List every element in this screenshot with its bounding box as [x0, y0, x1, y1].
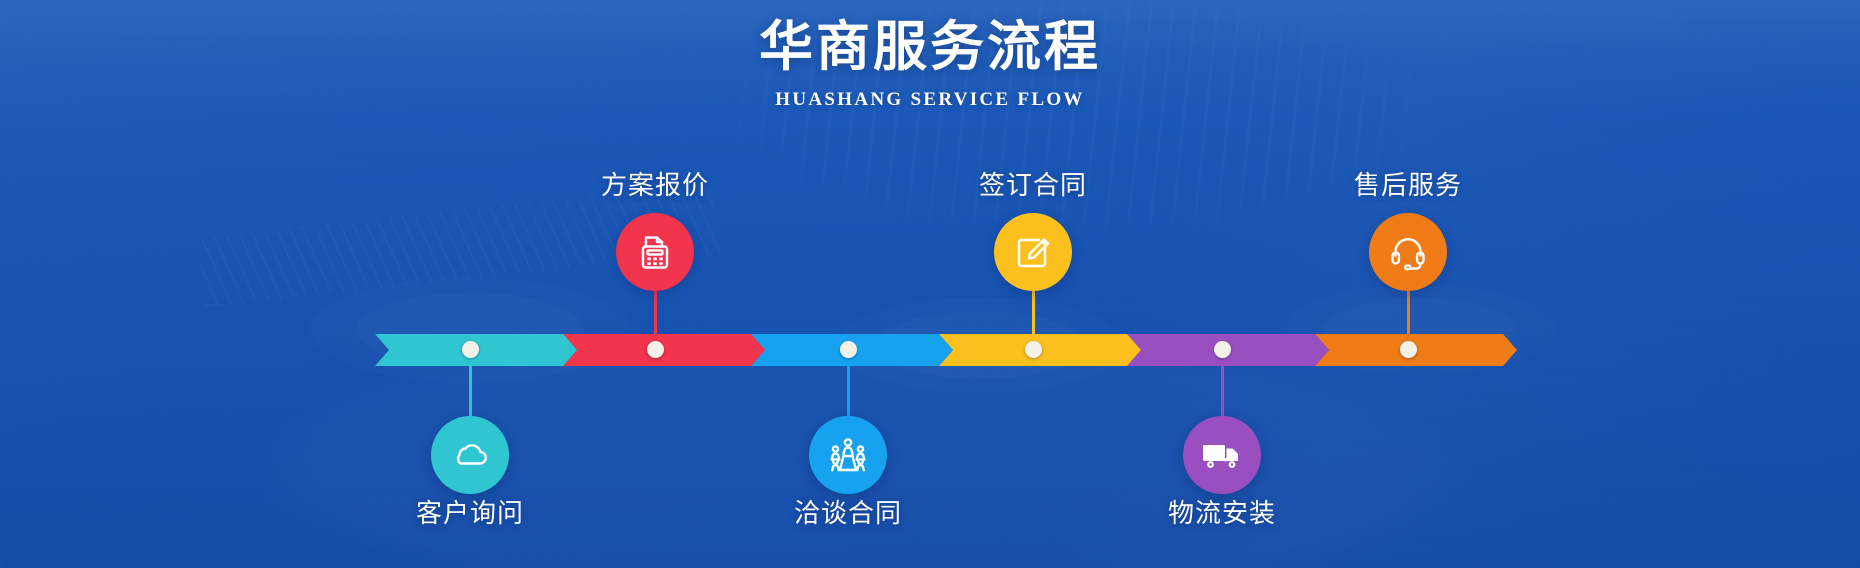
- contract-pen-icon[interactable]: [994, 213, 1072, 291]
- flow-step-marker-dot: [1025, 341, 1042, 358]
- delivery-truck-icon[interactable]: [1183, 416, 1261, 494]
- flow-step-label: 售后服务: [1354, 168, 1462, 202]
- flow-step-label: 洽谈合同: [794, 496, 902, 530]
- meeting-table-icon[interactable]: [809, 416, 887, 494]
- flow-steps: 客户询问方案报价洽谈合同签订合同物流安装售后服务: [0, 0, 1860, 568]
- calculator-receipt-icon[interactable]: [616, 213, 694, 291]
- flow-step-label: 签订合同: [979, 168, 1087, 202]
- service-flow-banner: 华商服务流程 HUASHANG SERVICE FLOW 客户询问方案报价洽谈合…: [0, 0, 1860, 568]
- flow-step-marker-dot: [1400, 341, 1417, 358]
- flow-step-label: 客户询问: [416, 496, 524, 530]
- flow-step-marker-dot: [1214, 341, 1231, 358]
- flow-step-label: 方案报价: [601, 168, 709, 202]
- flow-step-label: 物流安装: [1168, 496, 1276, 530]
- flow-step-marker-dot: [647, 341, 664, 358]
- flow-arrow-bar: [0, 334, 1860, 366]
- flow-arrow-segment[interactable]: [563, 334, 765, 366]
- flow-step-marker-dot: [462, 341, 479, 358]
- flow-step-marker-dot: [840, 341, 857, 358]
- headset-support-icon[interactable]: [1369, 213, 1447, 291]
- cloud-icon[interactable]: [431, 416, 509, 494]
